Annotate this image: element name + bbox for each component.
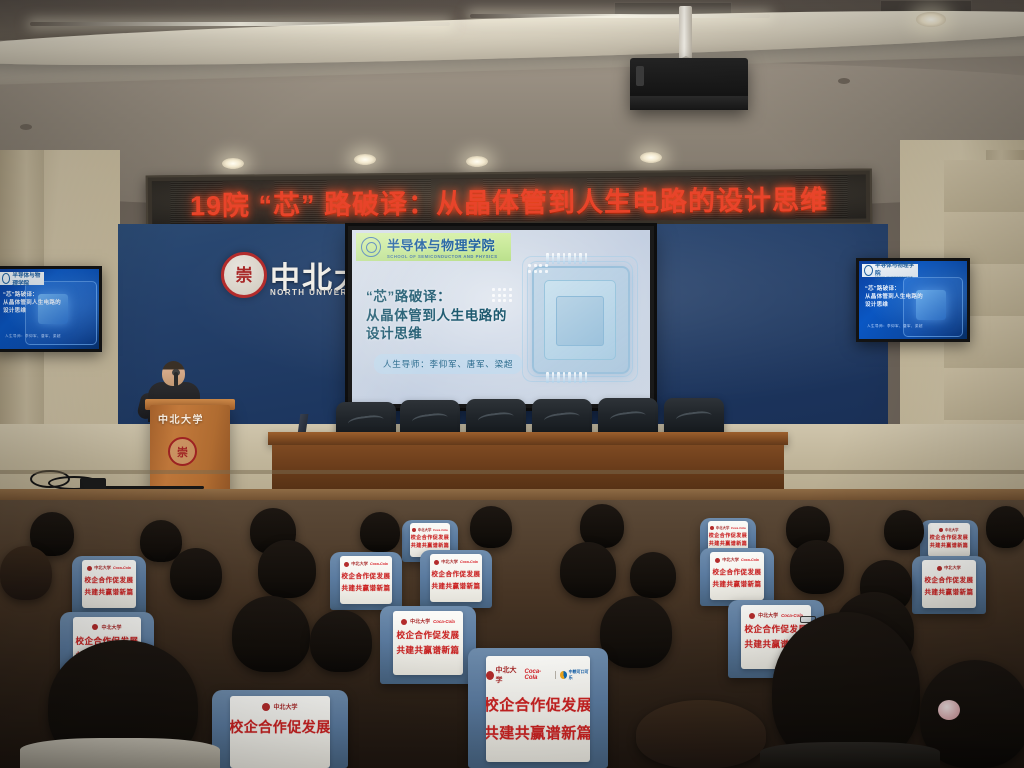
seat-logo-university: 中北大学 <box>496 665 521 685</box>
seat-logo-university: 中北大学 <box>441 559 458 565</box>
seat-logo-university: 中北大学 <box>273 702 297 711</box>
university-logo-icon <box>87 566 92 571</box>
university-logo-icon <box>401 619 407 625</box>
seat-cover-line2: 共建共赢谱新篇 <box>411 542 450 549</box>
cofco-logo-icon <box>560 671 567 679</box>
cofco-logo-group: 中粮可口可乐 <box>560 669 590 681</box>
seat-cover-line2: 共建共赢谱新篇 <box>925 586 974 596</box>
audience-person <box>0 546 52 600</box>
tv-left-screen: 半导体与物理学院 “芯”路破译： 从晶体管到人生电路的 设计思维 人生导师：李仰… <box>0 269 99 349</box>
university-logo-icon <box>937 566 942 571</box>
seat-cover-logos: 中北大学 Coca-Cola <box>412 527 447 532</box>
logo-divider <box>555 671 556 679</box>
university-logo-glyph: 崇 <box>236 267 253 284</box>
seat-cover: 中北大学 校企合作促发展 共建共赢谱新篇 <box>922 560 976 608</box>
tv-right-header-en: SCHOOL OF SEMICONDUCTOR AND PHYSICS <box>875 277 918 281</box>
seat-logo-university: 中北大学 <box>101 624 121 631</box>
seat-logo-university: 中北大学 <box>945 527 959 532</box>
wall-panel <box>944 160 1024 213</box>
university-logo-icon <box>715 558 720 563</box>
audience-person <box>232 596 310 672</box>
coca-cola-logo-icon: Coca-Cola <box>433 619 455 624</box>
tv-right-subtitle: 人生导师：李仰军、唐军、梁超 <box>867 324 923 329</box>
seat-cover-line1: 校企合作促发展 <box>930 534 969 541</box>
audience-seat: 中北大学 Coca-Cola 校企合作促发展 共建共赢谱新篇 <box>700 548 774 606</box>
audience-person <box>470 506 512 548</box>
school-logo-icon <box>864 265 873 276</box>
tv-right-title-line1: “芯”路破译： <box>865 285 923 293</box>
projector-mount-pole <box>679 6 692 64</box>
seat-cover-logos: 中北大学 <box>92 624 121 631</box>
audience-person <box>884 510 924 550</box>
seat-cover-line1: 校企合作促发展 <box>709 532 748 539</box>
seat-cover-logos: 中北大学 Coca-Cola <box>401 618 455 625</box>
seat-logo-university: 中北大学 <box>716 525 730 530</box>
podium-logo-icon: 崇 <box>168 437 197 466</box>
seat-cover: 中北大学 Coca-Cola 校企合作促发展 共建共赢谱新篇 <box>710 552 764 600</box>
coca-cola-logo-icon: Coca-Cola <box>113 566 131 570</box>
seat-cover-logos: 中北大学 Coca-Cola <box>434 559 478 565</box>
seat-cover-logos: 中北大学 <box>937 565 961 571</box>
seat-cover-line2: 共建共赢谱新篇 <box>709 540 748 547</box>
seat-cover-line1: 校企合作促发展 <box>925 574 974 584</box>
seat-cover-logos: 中北大学 <box>939 527 958 532</box>
seat-cover-logos: 中北大学 Coca-Cola <box>87 565 131 571</box>
tv-right-screen: 半导体与物理学院 SCHOOL OF SEMICONDUCTOR AND PHY… <box>859 261 967 339</box>
tv-left-title-line3: 设计思维 <box>3 307 61 315</box>
coca-cola-logo-icon: Coca-Cola <box>525 669 552 681</box>
seat-cover-line1: 校企合作促发展 <box>396 629 459 641</box>
coca-cola-logo-icon: Coca-Cola <box>460 560 478 564</box>
podium-label: 中北大学 <box>158 411 204 426</box>
projector-lens-icon <box>636 66 644 86</box>
seat-cover: 中北大学 校企合作促发展 <box>230 696 330 768</box>
tv-right-header-band: 半导体与物理学院 SCHOOL OF SEMICONDUCTOR AND PHY… <box>862 264 918 277</box>
seat-cover-line1: 校企合作促发展 <box>230 717 330 737</box>
lecture-hall-photo: 19院 “芯” 路破译：从晶体管到人生电路的设计思维 崇 中北大学 NORTH … <box>0 0 1024 768</box>
audience-seat: 中北大学 Coca-Cola 校企合作促发展 共建共赢谱新篇 <box>72 556 146 614</box>
seat-cover-line2: 共建共赢谱新篇 <box>342 582 391 592</box>
seat-cover-line2: 共建共赢谱新篇 <box>713 578 762 588</box>
audience-person <box>790 540 844 594</box>
tv-left-title-line1: “芯”路破译： <box>3 291 61 299</box>
seat-cover: 中北大学 校企合作促发展 共建共赢谱新篇 <box>928 523 970 557</box>
university-logo-icon <box>92 624 98 630</box>
seat-cover-line2: 共建共赢谱新篇 <box>486 722 590 743</box>
stage-floor-line <box>0 470 1024 474</box>
ceiling-downlight <box>916 12 946 27</box>
seat-cover: 中北大学 Coca-Cola 校企合作促发展 共建共赢谱新篇 <box>82 560 136 608</box>
school-logo-icon <box>2 273 10 284</box>
projection-screen: 半导体与物理学院 SCHOOL OF SEMICONDUCTOR AND PHY… <box>348 226 654 408</box>
podium-logo-glyph: 崇 <box>177 444 188 460</box>
audience-person-foreground <box>636 700 766 768</box>
tv-left: 半导体与物理学院 “芯”路破译： 从晶体管到人生电路的 设计思维 人生导师：李仰… <box>0 266 102 352</box>
seat-cover-line2: 共建共赢谱新篇 <box>432 580 481 590</box>
microphone-handle <box>174 372 178 387</box>
coca-cola-logo-icon: Coca-Cola <box>433 528 448 532</box>
ceiling-light-strip <box>30 22 450 26</box>
smoke-detector-icon <box>20 124 32 130</box>
seat-cover-line2: 共建共赢谱新篇 <box>85 586 134 596</box>
led-banner: 19院 “芯” 路破译：从晶体管到人生电路的设计思维 <box>146 169 873 232</box>
audience-person <box>630 552 676 598</box>
seat-cover-line1: 校企合作促发展 <box>411 534 450 541</box>
led-banner-text: 19院 “芯” 路破译：从晶体管到人生电路的设计思维 <box>190 177 828 222</box>
audience-seat: 中北大学 校企合作促发展 共建共赢谱新篇 <box>912 556 986 614</box>
ceiling-downlight <box>354 154 376 165</box>
seat-cover-line1: 校企合作促发展 <box>342 570 391 580</box>
tv-right-title-line3: 设计思维 <box>865 301 923 309</box>
university-logo-icon <box>434 560 439 565</box>
university-logo-icon <box>412 528 416 532</box>
projection-glare <box>352 230 650 404</box>
audience-person <box>560 542 616 598</box>
tv-right-title-line2: 从晶体管到人生电路的 <box>865 293 923 301</box>
seat-cover-line1: 校企合作促发展 <box>432 568 481 578</box>
seat-cover-line2: 共建共赢谱新篇 <box>930 542 969 549</box>
ceiling-downlight <box>222 158 244 169</box>
seat-cover-line1: 校企合作促发展 <box>713 566 762 576</box>
seat-cover-line1: 校企合作促发展 <box>486 694 590 715</box>
audience-person <box>310 610 372 672</box>
audience-seat: 中北大学 Coca-Cola 中粮可口可乐 校企合作促发展 共建共赢谱新篇 <box>468 648 608 768</box>
tv-right-title: “芯”路破译： 从晶体管到人生电路的 设计思维 <box>865 285 923 309</box>
seat-logo-university: 中北大学 <box>758 612 778 619</box>
seat-logo-university: 中北大学 <box>944 565 961 571</box>
tv-left-header-cn: 半导体与物理学院 <box>12 271 44 287</box>
tv-left-title: “芯”路破译： 从晶体管到人生电路的 设计思维 <box>3 291 61 315</box>
tv-left-title-line2: 从晶体管到人生电路的 <box>3 299 61 307</box>
audience-person <box>986 506 1024 548</box>
seat-cover-logos: 中北大学 <box>262 702 297 711</box>
seat-cover-line1: 校企合作促发展 <box>85 574 134 584</box>
university-logo-icon <box>344 562 349 567</box>
audience-seat: 中北大学 Coca-Cola 校企合作促发展 共建共赢谱新篇 <box>330 552 402 610</box>
hair-clip <box>938 700 960 720</box>
university-logo-icon <box>939 528 943 532</box>
coca-cola-logo-icon: Coca-Cola <box>731 526 746 530</box>
seat-cover-logos: 中北大学 Coca-Cola <box>749 612 803 619</box>
seat-logo-university: 中北大学 <box>94 565 111 571</box>
university-logo-icon <box>486 671 494 680</box>
head-table-top <box>268 432 788 445</box>
seat-cover-logos: 中北大学 Coca-Cola <box>344 561 388 567</box>
tv-left-subtitle: 人生导师：李仰军、唐军、梁超 <box>5 334 61 339</box>
coca-cola-logo-icon: Coca-Cola <box>370 562 388 566</box>
university-logo-icon <box>262 703 270 711</box>
audience-seat: 中北大学 Coca-Cola 校企合作促发展 共建共赢谱新篇 <box>420 550 492 608</box>
seat-cover-logos: 中北大学 Coca-Cola 中粮可口可乐 <box>486 665 590 685</box>
ceiling <box>0 0 1024 176</box>
audience-seat: 中北大学 Coca-Cola 校企合作促发展 共建共赢谱新篇 <box>380 606 476 684</box>
seat-cover: 中北大学 Coca-Cola 校企合作促发展 共建共赢谱新篇 <box>430 554 482 602</box>
coca-cola-logo-icon: Coca-Cola <box>741 558 759 562</box>
projection-screen-surface: 半导体与物理学院 SCHOOL OF SEMICONDUCTOR AND PHY… <box>352 230 650 404</box>
university-logo-icon <box>749 613 755 619</box>
seat-logo-cofco: 中粮可口可乐 <box>569 669 590 681</box>
audience-seat: 中北大学 校企合作促发展 <box>212 690 348 768</box>
seat-cover-line2: 共建共赢谱新篇 <box>396 644 459 656</box>
ceiling-downlight <box>466 156 488 167</box>
ceiling-downlight <box>640 152 662 163</box>
wall-panel <box>944 368 1024 421</box>
audience-person <box>600 596 672 668</box>
head-table-chair <box>664 398 724 436</box>
projector-body-shade <box>630 96 748 110</box>
head-table-chair <box>598 398 658 436</box>
seat-logo-university: 中北大学 <box>410 618 430 625</box>
led-banner-screen: 19院 “芯” 路破译：从晶体管到人生电路的设计思维 <box>152 175 866 226</box>
smoke-detector-icon <box>838 78 850 84</box>
tv-right-header-cn: 半导体与物理学院 <box>875 261 918 277</box>
tv-right: 半导体与物理学院 SCHOOL OF SEMICONDUCTOR AND PHY… <box>856 258 970 342</box>
seat-cover-logos: 中北大学 Coca-Cola <box>715 557 759 563</box>
university-logo-icon <box>710 526 714 530</box>
university-logo-icon: 崇 <box>221 252 267 298</box>
audience-shoulders <box>760 742 940 768</box>
audience-person <box>170 548 222 600</box>
seat-cover: 中北大学 Coca-Cola 校企合作促发展 共建共赢谱新篇 <box>393 611 463 675</box>
tv-left-header-band: 半导体与物理学院 <box>0 272 44 285</box>
audience-shoulders <box>20 738 220 768</box>
ceiling-light-strip <box>470 14 770 18</box>
audience-person <box>360 512 400 552</box>
audience-person <box>258 540 316 598</box>
head-table-front <box>272 445 784 493</box>
seat-logo-university: 中北大学 <box>351 561 368 567</box>
seat-logo-university: 中北大学 <box>418 527 432 532</box>
seat-logo-university: 中北大学 <box>722 557 739 563</box>
university-logo-group: 中北大学 <box>486 665 521 685</box>
seat-cover-logos: 中北大学 Coca-Cola <box>710 525 745 530</box>
seat-cover: 中北大学 Coca-Cola 校企合作促发展 共建共赢谱新篇 <box>340 556 392 604</box>
seat-cover: 中北大学 Coca-Cola 中粮可口可乐 校企合作促发展 共建共赢谱新篇 <box>486 656 590 762</box>
